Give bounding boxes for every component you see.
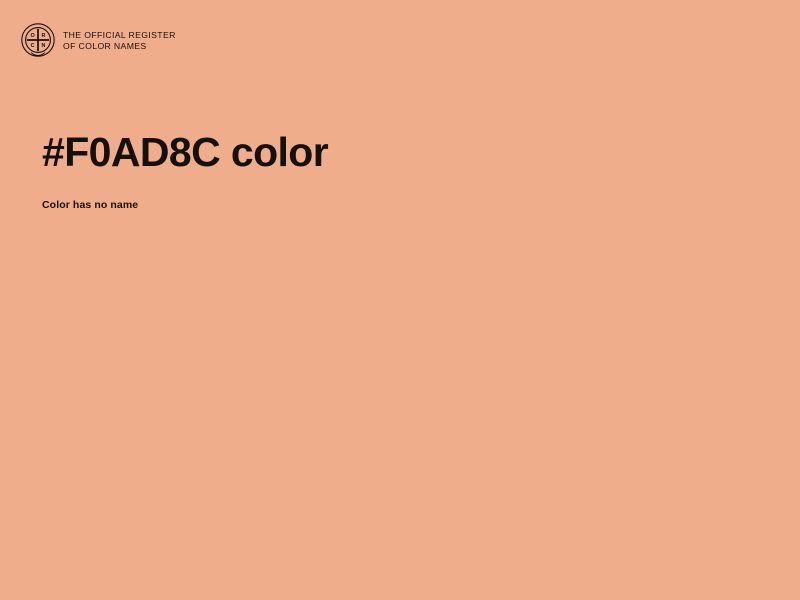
- svg-text:R: R: [41, 33, 45, 39]
- svg-text:O: O: [30, 33, 34, 39]
- color-swatch-background: [0, 0, 800, 600]
- brand-wordmark: THE OFFICIAL REGISTER OF COLOR NAMES: [63, 30, 176, 51]
- color-page: O R C N THE OFFICIAL REGISTER OF COLOR N…: [0, 0, 800, 600]
- color-name-status: Color has no name: [42, 198, 138, 212]
- brand-line-2: OF COLOR NAMES: [63, 41, 176, 52]
- orcn-circular-seal-icon: O R C N: [20, 22, 56, 58]
- brand-header[interactable]: O R C N THE OFFICIAL REGISTER OF COLOR N…: [20, 22, 176, 58]
- svg-text:N: N: [41, 43, 45, 49]
- page-title: #F0AD8C color: [42, 128, 328, 176]
- svg-text:C: C: [31, 43, 35, 49]
- brand-line-1: THE OFFICIAL REGISTER: [63, 30, 176, 41]
